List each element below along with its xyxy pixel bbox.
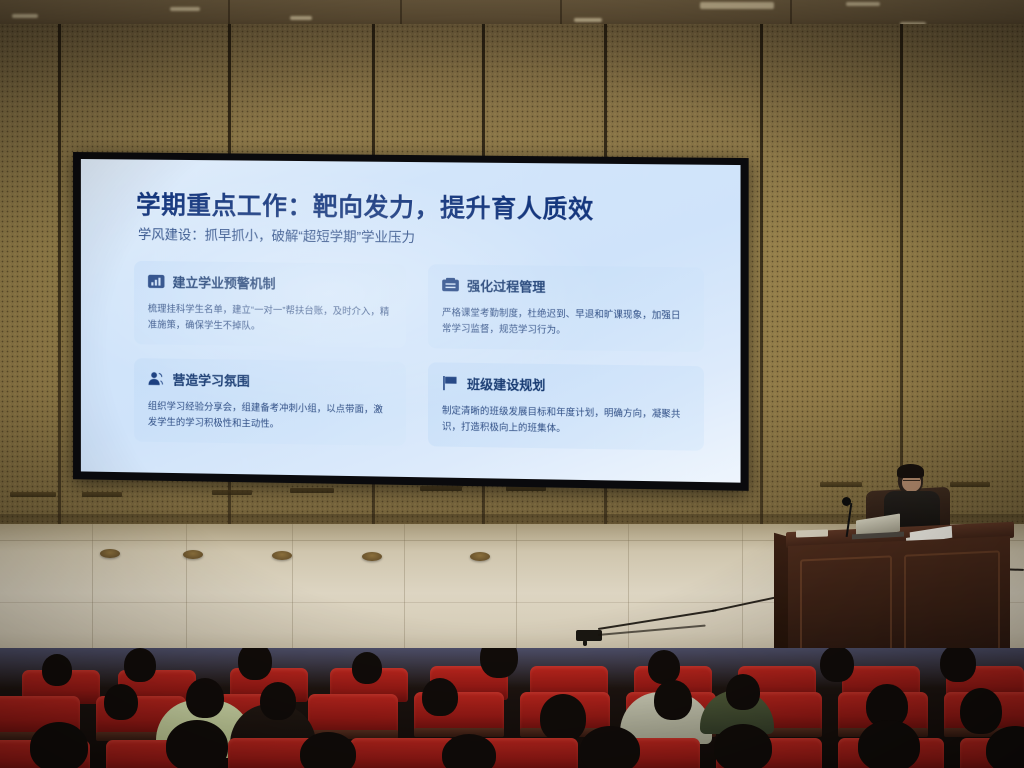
ceiling-light — [12, 14, 38, 18]
audience-area — [0, 648, 1024, 768]
audience-head — [648, 650, 680, 684]
clipboard-icon — [442, 277, 459, 292]
card-body: 严格课堂考勤制度，杜绝迟到、早退和旷课现象，加强日常学习监督，规范学习行为。 — [442, 304, 690, 338]
audience-head — [654, 680, 692, 720]
floor-outlet — [362, 552, 382, 561]
bar-chart-icon — [148, 274, 165, 289]
podium-area — [786, 505, 1024, 670]
ceiling-light — [700, 2, 774, 9]
audience-head — [124, 648, 156, 682]
audience-head — [540, 694, 586, 742]
audience-head — [352, 652, 382, 684]
audience-head — [422, 678, 458, 716]
floor-outlet — [470, 552, 490, 561]
ceiling-light — [574, 18, 602, 22]
card-header: 班级建设规划 — [442, 374, 690, 397]
ceiling-light — [846, 2, 880, 6]
card-title: 建立学业预警机制 — [173, 272, 276, 292]
card-body: 梳理挂科学生名单，建立“一对一”帮扶台账，及时介入，精准施策，确保学生不掉队。 — [148, 301, 392, 335]
floor-outlet — [183, 550, 203, 559]
audience-head — [580, 726, 640, 768]
auditorium-seat — [308, 694, 398, 734]
card-title: 强化过程管理 — [467, 276, 545, 296]
floor-outlet — [100, 549, 120, 558]
microphone-icon — [842, 497, 851, 506]
speaker-glasses — [903, 480, 920, 485]
slide-card: 营造学习氛围 组织学习经验分享会，组建备考冲刺小组，以点带面，激发学生的学习积极… — [134, 358, 406, 446]
audience-head — [726, 674, 760, 710]
audience-head — [940, 648, 976, 682]
slide-card: 班级建设规划 制定清晰的班级发展目标和年度计划，明确方向，凝聚共识，打造积极向上… — [428, 362, 704, 451]
audience-head — [960, 688, 1002, 734]
slide-card: 强化过程管理 严格课堂考勤制度，杜绝迟到、早退和旷课现象，加强日常学习监督，规范… — [428, 264, 704, 352]
slide-card-grid: 建立学业预警机制 梳理挂科学生名单，建立“一对一”帮扶台账，及时介入，精准施策，… — [134, 261, 704, 451]
card-title: 营造学习氛围 — [173, 370, 250, 390]
card-header: 强化过程管理 — [442, 275, 690, 297]
audience-head — [820, 648, 854, 682]
audience-head — [42, 654, 72, 686]
slide-title: 学期重点工作：靶向发力，提升育人质效 — [136, 185, 706, 227]
audience-head — [186, 678, 224, 718]
flag-icon — [442, 376, 459, 391]
card-header: 营造学习氛围 — [148, 369, 392, 392]
audience-head — [104, 684, 138, 720]
stage-device-stand — [583, 640, 587, 646]
auditorium-seat — [350, 738, 456, 768]
card-body: 制定清晰的班级发展目标和年度计划，明确方向，凝聚共识，打造积极向上的班集体。 — [442, 403, 690, 438]
audience-head — [30, 722, 88, 768]
card-title: 班级建设规划 — [467, 374, 545, 394]
audience-head — [260, 682, 296, 720]
card-header: 建立学业预警机制 — [148, 272, 392, 294]
people-icon — [148, 371, 165, 386]
audience-head — [858, 720, 920, 768]
ceiling-light — [290, 16, 312, 20]
audience-head — [300, 732, 356, 768]
audience-head — [714, 724, 772, 768]
podium-nameplate — [796, 529, 828, 537]
card-body: 组织学习经验分享会，组建备考冲刺小组，以点带面，激发学生的学习积极性和主动性。 — [148, 398, 392, 433]
speaker-hair — [897, 464, 924, 478]
presentation-slide: 学期重点工作：靶向发力，提升育人质效 学风建设：抓早抓小，破解“超短学期”学业压… — [81, 159, 741, 483]
projection-screen: 学期重点工作：靶向发力，提升育人质效 学风建设：抓早抓小，破解“超短学期”学业压… — [81, 159, 741, 483]
audience-head — [238, 648, 272, 680]
audience-head — [166, 720, 228, 768]
slide-card: 建立学业预警机制 梳理挂科学生名单，建立“一对一”帮扶台账，及时介入，精准施策，… — [134, 261, 406, 348]
ceiling-light — [170, 7, 200, 11]
slide-subtitle: 学风建设：抓早抓小，破解“超短学期”学业压力 — [138, 223, 706, 249]
lecture-hall-photo: 学期重点工作：靶向发力，提升育人质效 学风建设：抓早抓小，破解“超短学期”学业压… — [0, 0, 1024, 768]
audience-head — [442, 734, 496, 768]
projection-screen-bezel: 学期重点工作：靶向发力，提升育人质效 学风建设：抓早抓小，破解“超短学期”学业压… — [73, 152, 749, 491]
floor-outlet — [272, 551, 292, 560]
